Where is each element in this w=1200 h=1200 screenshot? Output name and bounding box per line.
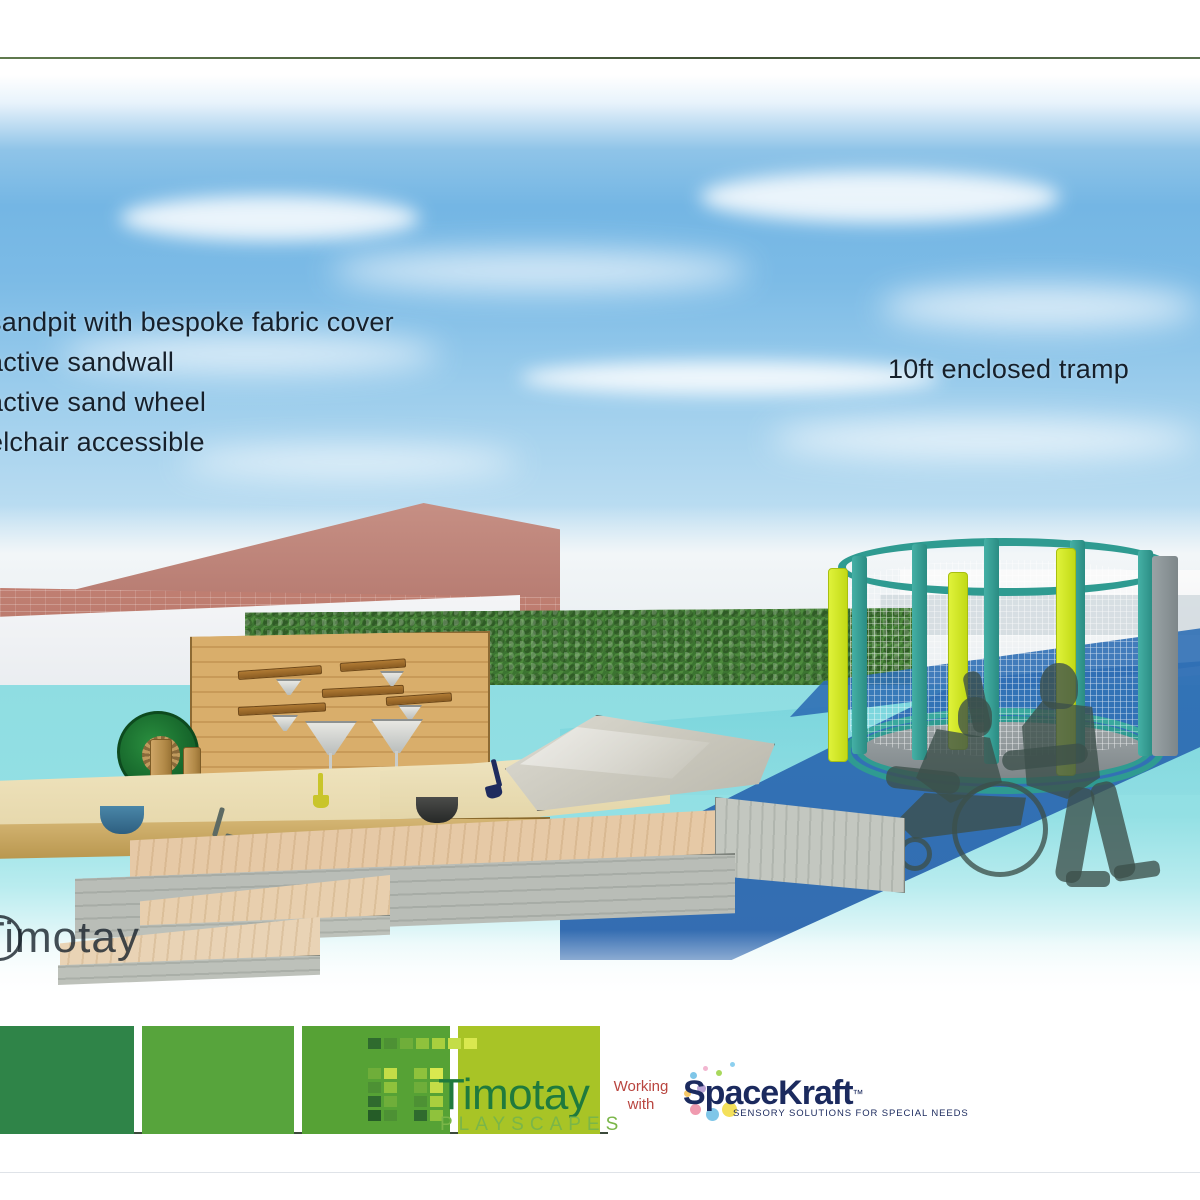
cloud-6 (520, 361, 940, 395)
working-with-line-2: with (606, 1096, 676, 1114)
cloud-1 (120, 195, 420, 241)
timotay-logo-grid-left (368, 1068, 397, 1121)
annotation-line-1: sandpit with bespoke fabric cover (0, 307, 394, 338)
cloud-2 (330, 251, 750, 291)
spacekraft-trademark-icon: ™ (853, 1089, 864, 1101)
top-rule-divider (0, 57, 1200, 59)
trampoline-frame-top (838, 538, 1172, 596)
carer-foot-back (1066, 871, 1110, 887)
cloud-3 (700, 171, 1060, 223)
bottom-hairline (0, 1172, 1200, 1173)
annotation-line-4: elchair accessible (0, 427, 205, 458)
timotay-watermark: Timotay (0, 913, 140, 963)
footer-bar: Timotay PLAYSCAPES Working with SpaceKra… (0, 1026, 1200, 1134)
trampoline-post-5 (1138, 550, 1153, 756)
timotay-brand-subtitle: PLAYSCAPES (440, 1114, 624, 1136)
annotation-trampoline: 10ft enclosed tramp (888, 354, 1129, 385)
color-swatch-2 (142, 1026, 294, 1134)
trampoline-pad-1 (828, 568, 848, 762)
annotation-line-2: active sandwall (0, 347, 174, 378)
cloud-4 (880, 285, 1200, 329)
interactive-sandwall (190, 631, 490, 779)
annotation-line-3: active sand wheel (0, 387, 206, 418)
trampoline-post-1 (852, 556, 867, 754)
working-with-label: Working with (606, 1078, 676, 1114)
cloud-8 (180, 447, 520, 477)
sand-bowl-stem-1 (329, 753, 332, 769)
yellow-spade-handle (318, 773, 323, 797)
design-visual-image: sandpit with bespoke fabric cover active… (0, 75, 1200, 1010)
page-root: sandpit with bespoke fabric cover active… (0, 0, 1200, 1200)
spacekraft-name: SpaceKraft (683, 1074, 853, 1112)
sand-bowl-stem-2 (395, 751, 398, 767)
working-with-line-1: Working (606, 1078, 676, 1096)
spacekraft-tagline: SENSORY SOLUTIONS FOR SPECIAL NEEDS (733, 1108, 969, 1119)
timotay-logo-top-squares (368, 1038, 477, 1049)
trampoline-post-2 (912, 544, 927, 760)
yellow-spade-blade (313, 795, 329, 808)
timotay-brand-name: Timotay (438, 1070, 589, 1120)
cloud-7 (770, 419, 1200, 459)
color-swatch-1 (0, 1026, 134, 1134)
trampoline-side-panel (1152, 556, 1178, 756)
